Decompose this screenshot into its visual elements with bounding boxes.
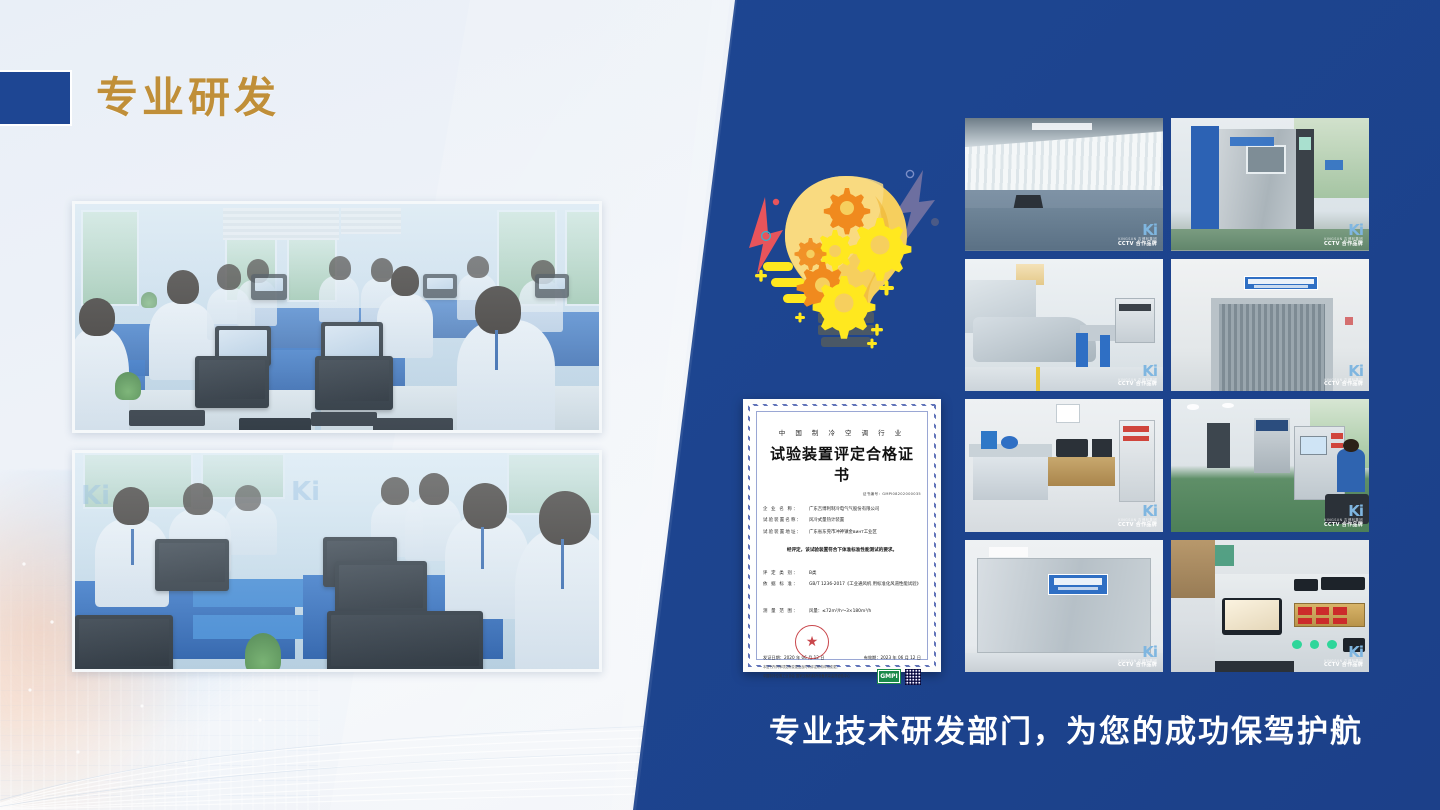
title-accent-square — [0, 70, 72, 126]
cell-insulated-test-room: KiKINGSUN 吉博利集团CCTV 合作品牌 — [965, 118, 1163, 251]
field-value: 广东省东莞市冲神镇金винт工业区 — [809, 530, 921, 535]
certificate-note: 经评定，该试验装置符合下体准标准性能测试的要求。 — [763, 547, 921, 553]
field-label: 试验装置名称： — [763, 518, 809, 523]
certificate-image: 中 国 制 冷 空 调 行 业 试验装置评定合格证书 证书编号：GMPI0820… — [743, 399, 941, 672]
field-label: 评 定 类 别： — [763, 571, 809, 576]
cell-environmental-test-chamber: KiKINGSUN 吉博利集团CCTV 合作品牌 — [1171, 118, 1369, 251]
certificate-row: 测 量 范 围： 风量：≤72m³/h～3×180m³/h — [763, 609, 921, 614]
field-value: B类 — [809, 571, 921, 576]
lightbulb-gears-icon — [735, 152, 957, 374]
certificate-row: 依 据 标 准： GB/T 1236-2017《工业通风机 用标准化风道性能试验… — [763, 582, 921, 587]
field-value: 风量：≤72m³/h～3×180m³/h — [809, 609, 921, 614]
certificate-row: 企 业 名 称： 广东吉博利制冷电气气股份有限公司 — [763, 507, 921, 512]
photo-engineering-office-upper — [72, 201, 602, 433]
office-scene-upper — [75, 204, 599, 430]
gmpi-logo: GMPI — [878, 670, 900, 683]
field-value: 风冷式量热计装置 — [809, 518, 921, 523]
certificate-title: 试验装置评定合格证书 — [763, 443, 921, 485]
slide-canvas: 专业研发 — [0, 0, 1440, 810]
cell-sound-test-room-door: KiKINGSUN 吉博利集团CCTV 合作品牌 — [1171, 259, 1369, 392]
official-seal-icon: ★ — [795, 625, 829, 659]
expiry-label: 有效期： — [864, 655, 881, 660]
cell-instrument-control-panel: KiKINGSUN 吉博利集团CCTV 合作品牌 — [1171, 540, 1369, 673]
certificate-issuers: 中国制冷空调工业协会 国家压缩机制冷设备质量监督检验中心 — [763, 674, 850, 679]
expiry-date: 2023 年 06 月 12 日 — [880, 655, 921, 660]
field-label: 试验装置地址： — [763, 530, 809, 535]
cell-control-console-operator: KiKINGSUN 吉博利集团CCTV 合作品牌 — [1171, 399, 1369, 532]
certificate-row: 评 定 类 别： B类 — [763, 571, 921, 576]
field-label: 企 业 名 称： — [763, 507, 809, 512]
page-title: 专业研发 — [96, 77, 280, 119]
certificate-row: 试验装置名称： 风冷式量热计装置 — [763, 518, 921, 523]
laboratory-photo-grid: KiKINGSUN 吉博利集团CCTV 合作品牌 KiKINGSUN 吉博利集团… — [965, 118, 1369, 672]
certificate-number-label: 证书编号： — [863, 492, 882, 496]
cell-enthalpy-difference-lab: KiKINGSUN 吉博利集团CCTV 合作品牌 — [965, 540, 1163, 673]
certificate-number: GMPI08202000035 — [882, 492, 921, 496]
certificate-row: 试验装置地址： 广东省东莞市冲神镇金винт工业区 — [763, 530, 921, 535]
photo-engineering-office-lower: Ki Ki — [72, 450, 602, 672]
certificate-fields: 企 业 名 称： 广东吉博利制冷电气气股份有限公司 试验装置名称： 风冷式量热计… — [763, 507, 921, 541]
field-value: GB/T 1236-2017《工业通风机 用标准化风道性能试验》 — [809, 582, 921, 587]
tagline-text: 专业技术研发部门，为您的成功保驾护航 — [716, 706, 1416, 751]
field-label: 依 据 标 准： — [763, 582, 809, 587]
field-label: 测 量 范 围： — [763, 609, 809, 614]
qr-code-icon — [905, 669, 921, 685]
certificate-fields-2: 评 定 类 别： B类 依 据 标 准： GB/T 1236-2017《工业通风… — [763, 571, 921, 621]
field-value: 广东吉博利制冷电气气股份有限公司 — [809, 507, 921, 512]
cell-motor-performance-bench: KiKINGSUN 吉博利集团CCTV 合作品牌 — [965, 399, 1163, 532]
certificate-industry-line: 中 国 制 冷 空 调 行 业 — [763, 427, 921, 437]
cell-air-duct-test-rig: KiKINGSUN 吉博利集团CCTV 合作品牌 — [965, 259, 1163, 392]
page-header: 专业研发 — [0, 70, 280, 126]
issue-date-label: 发证日期： — [763, 655, 784, 660]
office-scene-lower: Ki Ki — [75, 453, 599, 669]
